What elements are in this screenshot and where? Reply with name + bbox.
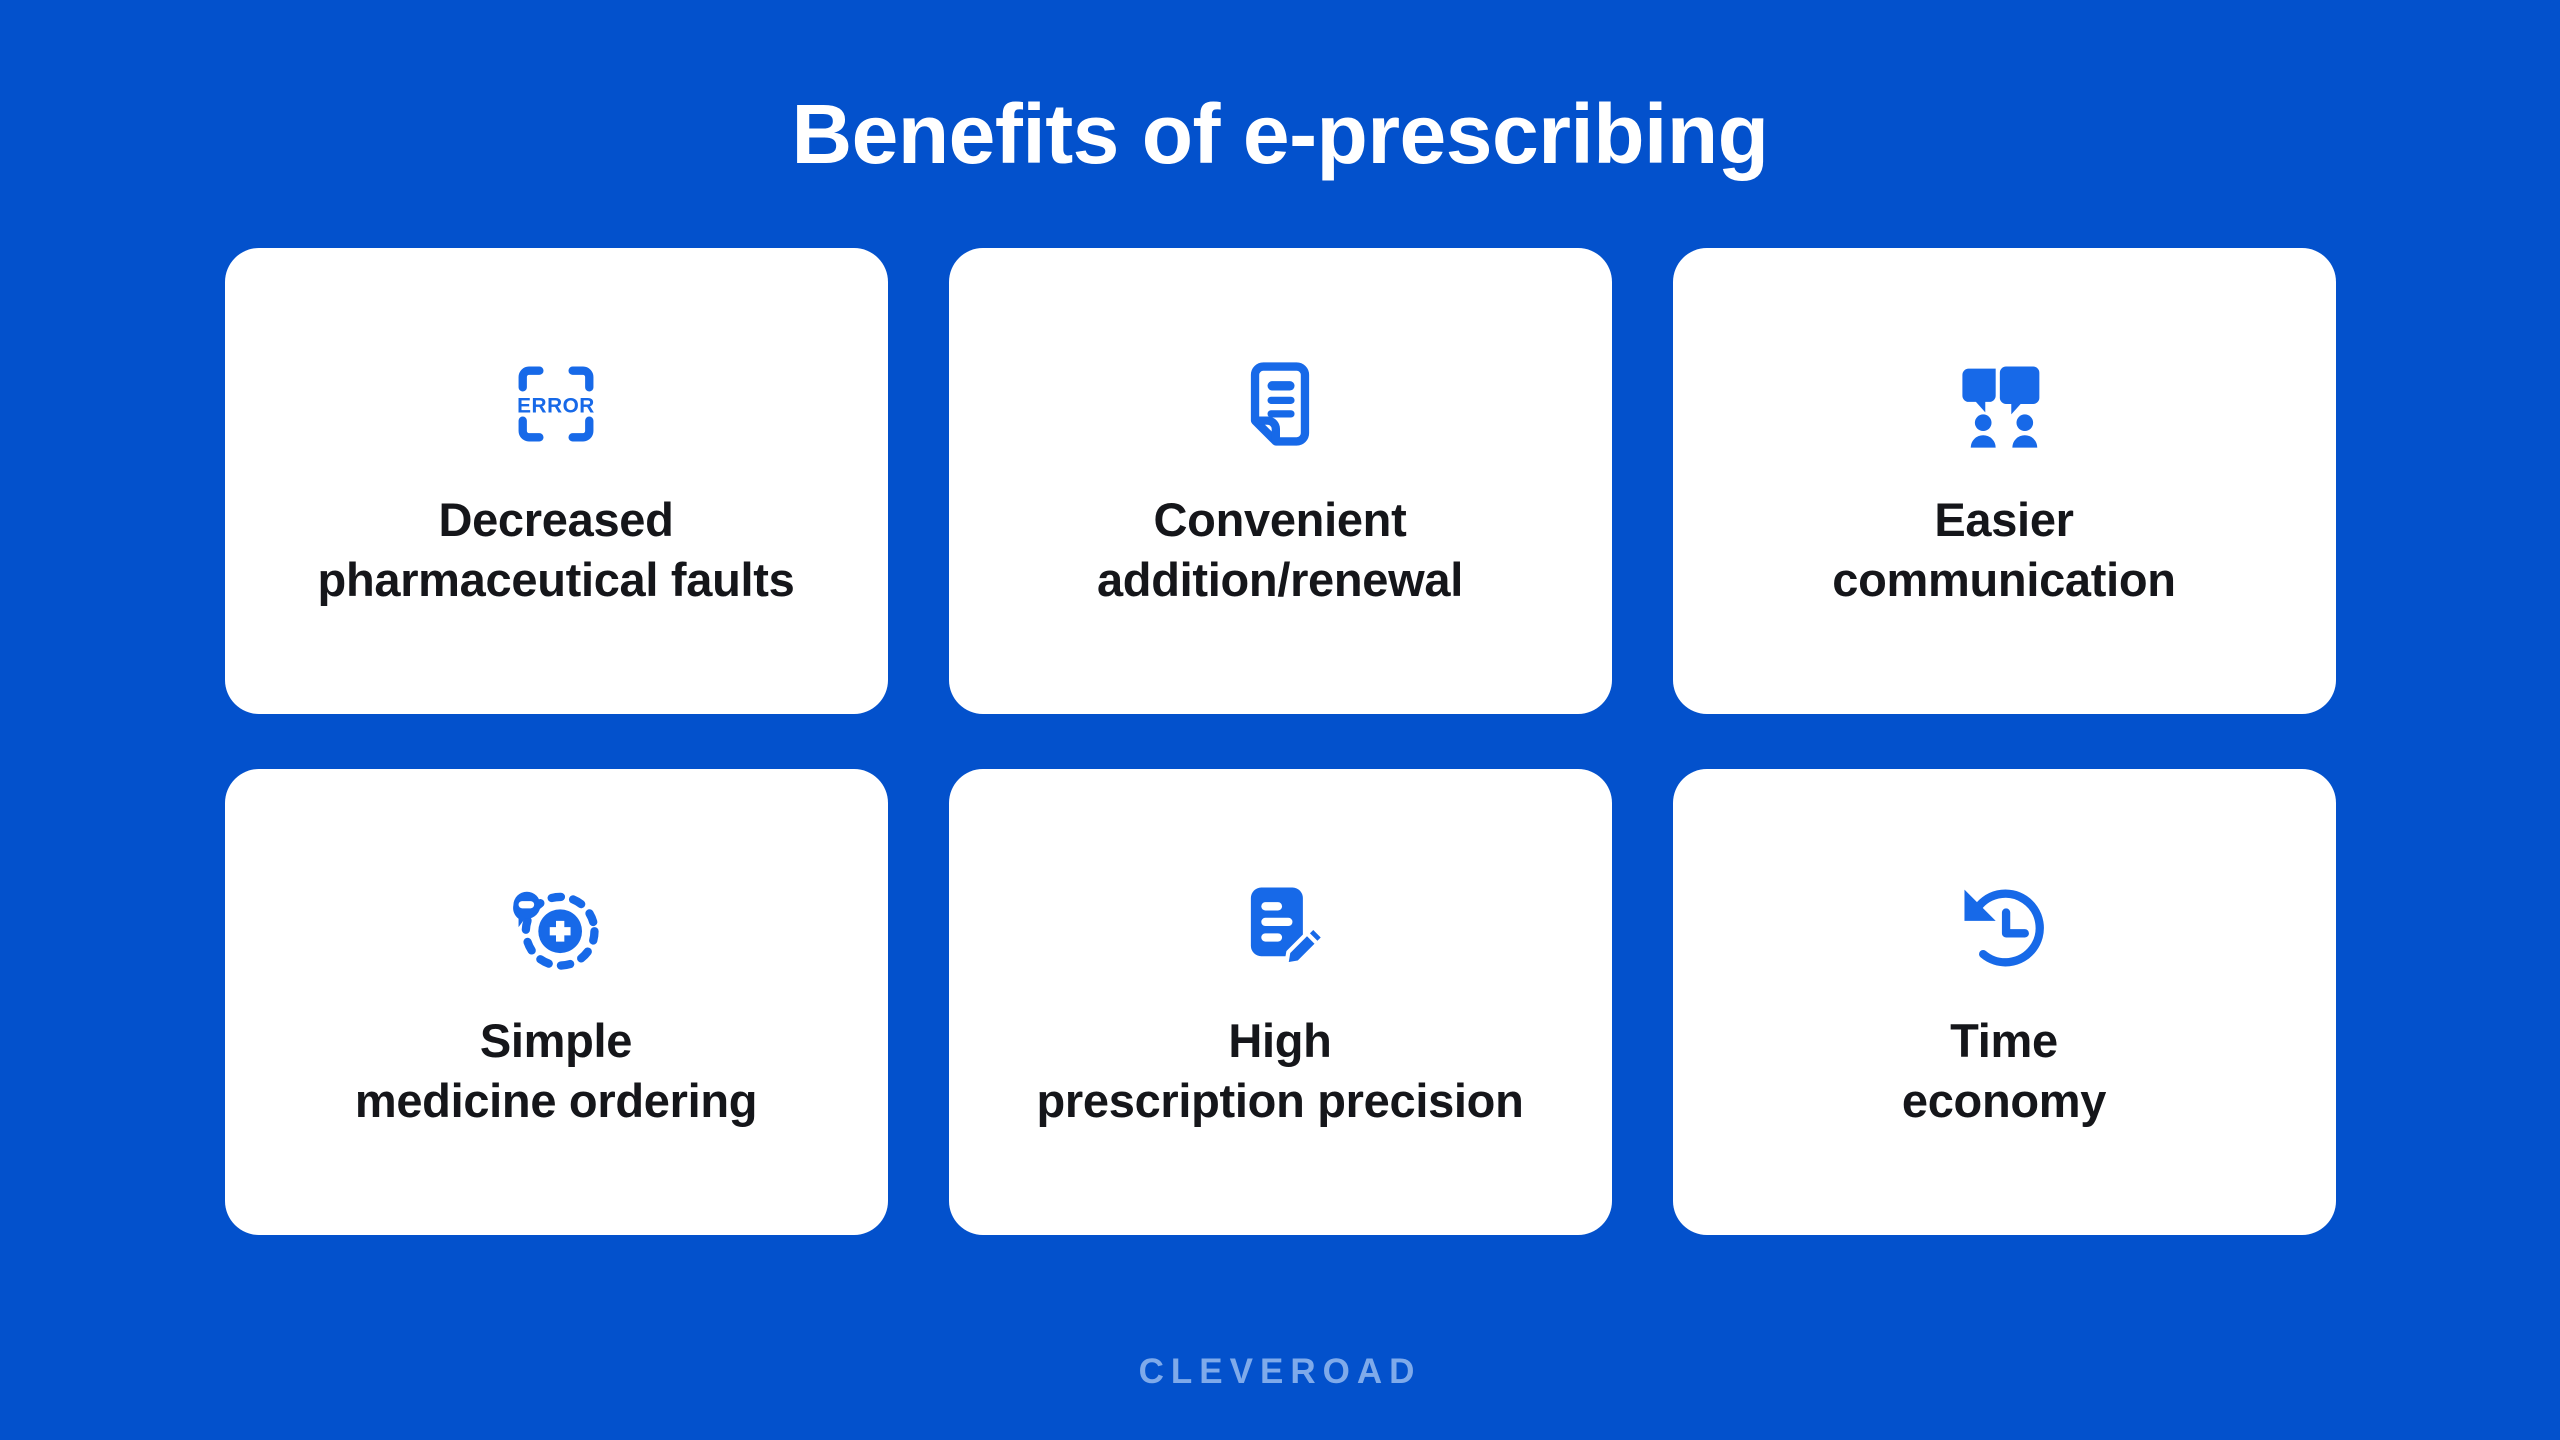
benefit-card-label: Decreased pharmaceutical faults [318, 490, 795, 610]
pill-dashed-circle-icon [504, 873, 608, 977]
page-title: Benefits of e-prescribing [791, 88, 1768, 180]
benefit-card-high-prescription-precision[interactable]: High prescription precision [949, 769, 1612, 1235]
benefit-card-label: Convenient addition/renewal [1097, 490, 1463, 610]
document-pencil-icon [1228, 873, 1332, 977]
benefit-card-label: High prescription precision [1036, 1011, 1523, 1131]
benefit-card-easier-communication[interactable]: Easier communication [1673, 248, 2336, 714]
document-lines-icon [1228, 352, 1332, 456]
benefit-card-label: Time economy [1902, 1011, 2106, 1131]
benefits-card-grid: ERROR Decreased pharmaceutical faults Co… [224, 248, 2336, 1235]
benefit-card-label: Easier communication [1832, 490, 2175, 610]
clock-history-icon [1952, 873, 2056, 977]
benefit-card-decreased-pharmaceutical-faults[interactable]: ERROR Decreased pharmaceutical faults [225, 248, 888, 714]
benefit-card-label: Simple medicine ordering [355, 1011, 757, 1131]
people-speech-bubbles-icon [1952, 352, 2056, 456]
svg-text:ERROR: ERROR [517, 395, 595, 418]
slide-root: Benefits of e-prescribing ERROR Decrease… [0, 0, 2560, 1440]
error-scan-icon: ERROR [504, 352, 608, 456]
benefit-card-time-economy[interactable]: Time economy [1673, 769, 2336, 1235]
benefit-card-simple-medicine-ordering[interactable]: Simple medicine ordering [225, 769, 888, 1235]
cleveroad-logo: CLEVEROAD [0, 1352, 2560, 1392]
benefit-card-convenient-addition-renewal[interactable]: Convenient addition/renewal [949, 248, 1612, 714]
